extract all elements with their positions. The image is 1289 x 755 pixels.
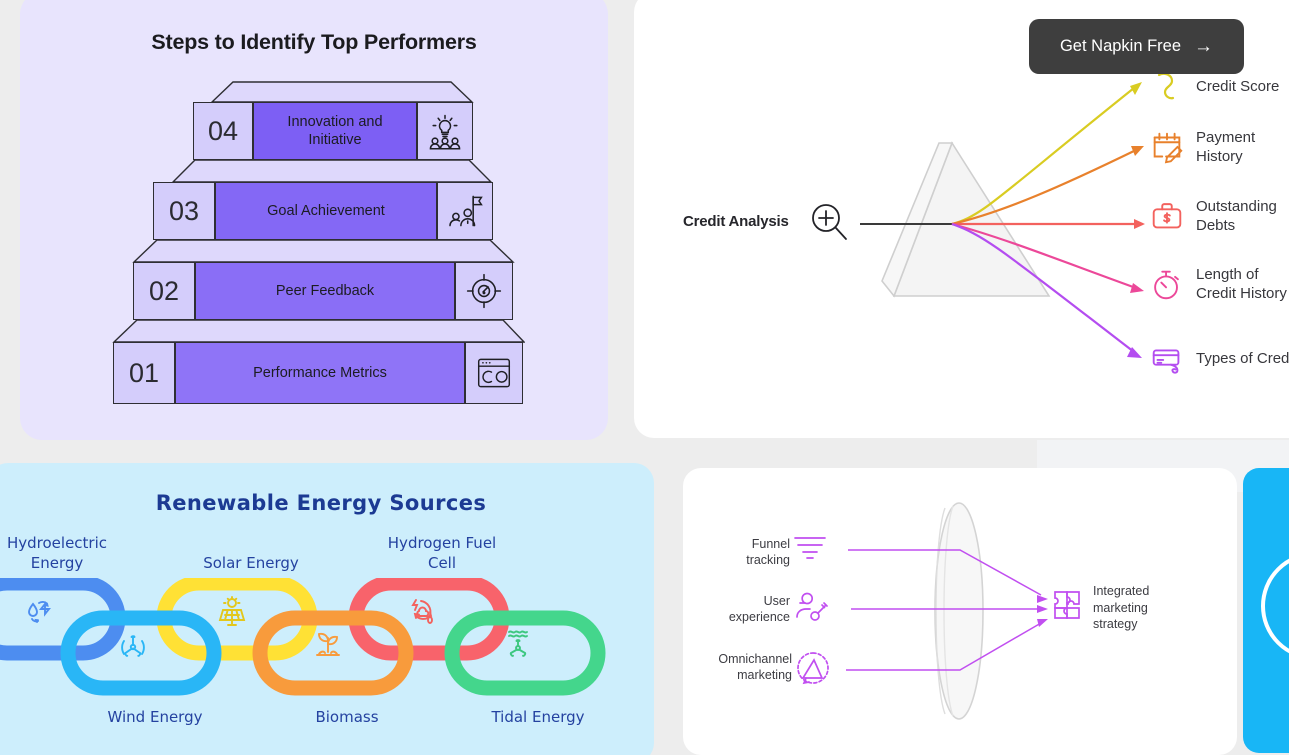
arrow-right-icon: → [1194, 36, 1213, 58]
stair-step-01[interactable]: 01 Performance Metrics [113, 320, 545, 404]
credit-output-label: Credit Score [1196, 77, 1279, 96]
puzzle-icon [1055, 592, 1079, 618]
step-02-label: Peer Feedback [195, 262, 455, 320]
briefcase-dollar-icon [1148, 197, 1186, 235]
credit-output-length-credit-history: Length ofCredit History [1148, 265, 1287, 303]
step-04-number: 04 [193, 102, 253, 160]
step-03-label: Goal Achievement [215, 182, 437, 240]
blue-card [1243, 468, 1289, 753]
marketing-lens-diagram [683, 468, 1237, 755]
magnifier-plus-icon [808, 200, 852, 244]
hydrogen-cycle-icon [413, 600, 432, 623]
credit-output-payment-history: PaymentHistory [1148, 128, 1255, 166]
user-key-icon [797, 594, 827, 621]
lens-shape [935, 503, 983, 719]
step-01-number: 01 [113, 342, 175, 404]
step-03-label-text: Goal Achievement [267, 202, 385, 220]
circle-outline-icon [1255, 546, 1289, 666]
step-01-label-text: Performance Metrics [253, 364, 387, 382]
credit-root-label: Credit Analysis [683, 213, 789, 230]
wind-turbine-icon [122, 636, 144, 656]
funnel-lines-icon [795, 538, 825, 558]
step-01-icon-box [465, 342, 523, 404]
water-drop-bolt-icon [29, 602, 49, 622]
step-03-number: 03 [153, 182, 215, 240]
stair-step-02[interactable]: 02 Peer Feedback [113, 240, 545, 320]
credit-card-swipe-icon [1148, 340, 1186, 378]
megaphone-gear-icon [798, 653, 828, 683]
step-01-number-text: 01 [129, 358, 159, 389]
energy-label-solar: Solar Energy [186, 554, 316, 574]
step-04-number-text: 04 [208, 116, 238, 147]
energy-label-biomass: Biomass [282, 708, 412, 728]
energy-label-hydroelectric: HydroelectricEnergy [0, 534, 122, 573]
energy-label-hydrogen: Hydrogen FuelCell [377, 534, 507, 573]
step-02-icon-box [455, 262, 513, 320]
energy-card-title: Renewable Energy Sources [0, 491, 654, 515]
step-04-label-text: Innovation and Initiative [260, 113, 410, 149]
step-02-number: 02 [133, 262, 195, 320]
get-napkin-free-button[interactable]: Get Napkin Free → [1029, 19, 1244, 74]
step-02-number-text: 02 [149, 276, 179, 307]
cta-label: Get Napkin Free [1060, 37, 1181, 56]
flag-person-icon [445, 191, 485, 231]
stair-step-04[interactable]: 04 Innovation and Initiative [113, 82, 545, 162]
stair-step-03[interactable]: 03 Goal Achievement [113, 160, 545, 240]
stopwatch-icon [1148, 265, 1186, 303]
step-01-label: Performance Metrics [175, 342, 465, 404]
credit-output-types-of-credit: Types of Credit [1148, 340, 1289, 378]
staircase-diagram: 04 Innovation and Initiative [113, 82, 545, 404]
calendar-pencil-icon [1148, 128, 1186, 166]
energy-label-wind: Wind Energy [90, 708, 220, 728]
target-dial-icon [464, 271, 504, 311]
step-03-icon-box [437, 182, 493, 240]
credit-output-label: PaymentHistory [1196, 128, 1255, 166]
solar-panel-icon [220, 597, 244, 625]
lightbulb-team-icon [425, 111, 465, 151]
energy-chain-diagram [0, 578, 626, 698]
energy-label-tidal: Tidal Energy [473, 708, 603, 728]
page-root: Steps to Identify Top Performers 04 Inno… [0, 0, 1289, 755]
credit-output-outstanding-debts: OutstandingDebts [1148, 197, 1277, 235]
step-04-label: Innovation and Initiative [253, 102, 417, 160]
credit-output-label: Length ofCredit History [1196, 265, 1287, 303]
sprout-icon [317, 634, 339, 655]
step-02-label-text: Peer Feedback [276, 282, 374, 300]
credit-output-label: OutstandingDebts [1196, 197, 1277, 235]
browser-analytics-icon [475, 356, 513, 390]
page-title: Steps to Identify Top Performers [20, 30, 608, 55]
step-04-icon-box [417, 102, 473, 160]
credit-output-label: Types of Credit [1196, 349, 1289, 368]
step-03-number-text: 03 [169, 196, 199, 227]
staircase-card: Steps to Identify Top Performers 04 Inno… [20, 0, 608, 440]
tidal-turbine-icon [509, 631, 527, 655]
